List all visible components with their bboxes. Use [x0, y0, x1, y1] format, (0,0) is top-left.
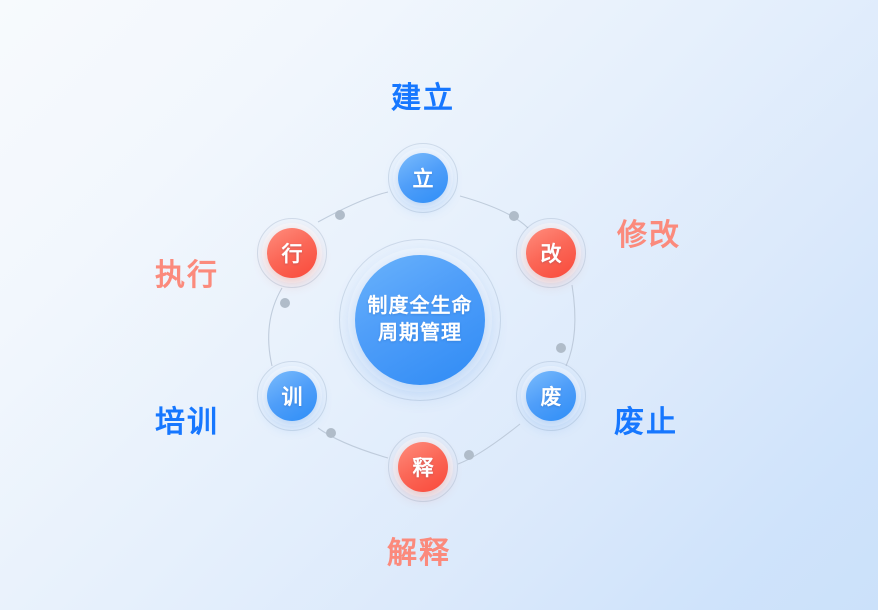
- connector-arc-xun-to-xing: [269, 288, 282, 366]
- node-jianli-glyph: 立: [398, 153, 448, 203]
- connector-dot: [326, 428, 336, 438]
- node-peixun-glyph: 训: [267, 371, 317, 421]
- label-feizhi: 废止: [614, 397, 678, 441]
- node-jieshi[interactable]: 释: [388, 432, 458, 502]
- node-zhixing-glyph: 行: [267, 228, 317, 278]
- node-feizhi-glyph: 废: [526, 371, 576, 421]
- connector-dot: [509, 211, 519, 221]
- center-hub-line-1: 制度全生命: [368, 293, 473, 320]
- node-feizhi[interactable]: 废: [516, 361, 586, 431]
- center-hub-line-2: 周期管理: [378, 320, 462, 347]
- center-hub[interactable]: 制度全生命 周期管理: [339, 239, 501, 401]
- connector-dot: [335, 210, 345, 220]
- node-jianli[interactable]: 立: [388, 143, 458, 213]
- label-xiugai: 修改: [617, 210, 681, 254]
- label-zhixing: 执行: [155, 250, 219, 294]
- label-jianli: 建立: [391, 73, 455, 117]
- node-zhixing[interactable]: 行: [257, 218, 327, 288]
- label-peixun: 培训: [155, 397, 219, 441]
- connector-dot: [556, 343, 566, 353]
- node-xiugai-glyph: 改: [526, 228, 576, 278]
- node-peixun[interactable]: 训: [257, 361, 327, 431]
- center-hub-core: 制度全生命 周期管理: [355, 255, 485, 385]
- connector-dot: [280, 298, 290, 308]
- connector-arc-li-to-gai: [460, 196, 528, 228]
- diagram-canvas: 制度全生命 周期管理 立 建立 改 修改 废 废止 释 解释 训 培训 行 执行: [0, 0, 878, 610]
- node-xiugai[interactable]: 改: [516, 218, 586, 288]
- connector-arc-gai-to-fei: [566, 285, 575, 366]
- connector-dot: [464, 450, 474, 460]
- node-jieshi-glyph: 释: [398, 442, 448, 492]
- label-jieshi: 解释: [387, 528, 451, 572]
- connector-arc-xing-to-li: [318, 192, 388, 222]
